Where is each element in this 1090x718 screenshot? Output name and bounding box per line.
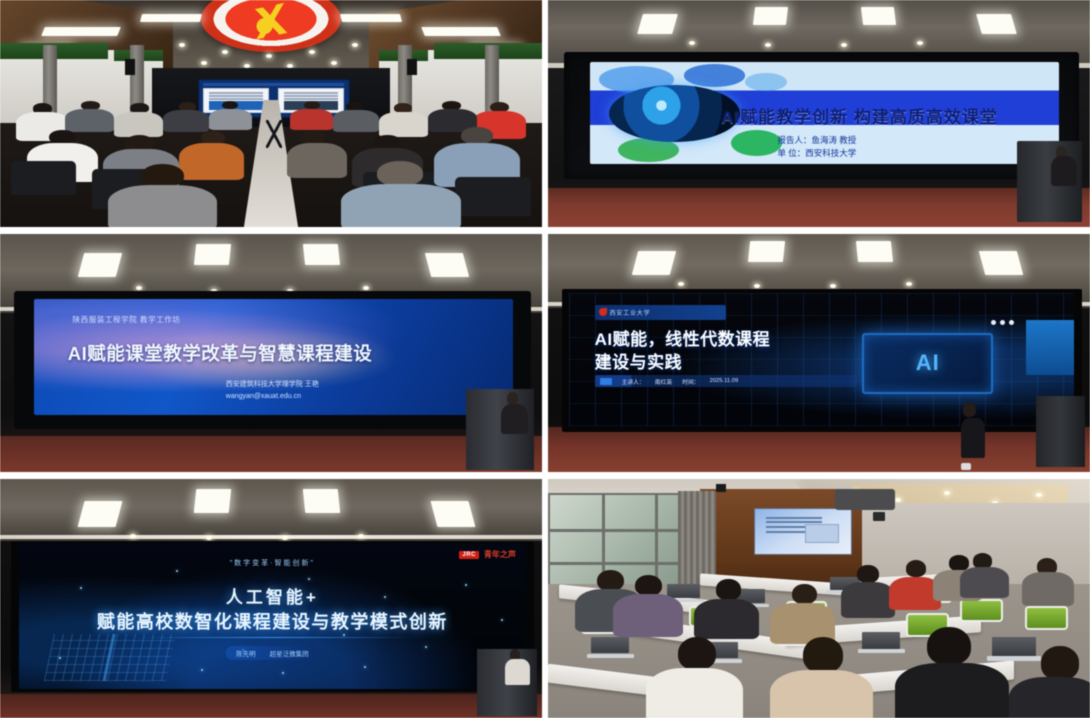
slide-title: AI赋能课堂教学改革与智慧课程建设 bbox=[68, 340, 499, 366]
university-logo: 西安工业大学 bbox=[595, 305, 726, 320]
led-video-wall: 陕西服装工程学院 教学工作坊 AI赋能课堂教学改革与智慧课程建设 西安建筑科技大… bbox=[14, 291, 532, 429]
presenter-name: 鱼海涛 教授 bbox=[811, 135, 856, 145]
downlight bbox=[179, 43, 185, 47]
byline-name: 西安建筑科技大学理学院 王艳 bbox=[226, 379, 319, 391]
collage-cell-top-left bbox=[0, 0, 545, 231]
ceiling-lamp bbox=[42, 27, 122, 36]
downlight bbox=[917, 41, 923, 45]
presenter-label: 报告人： bbox=[777, 135, 811, 145]
wall-speaker bbox=[873, 512, 885, 521]
corner-logo-2: 青年之声 bbox=[484, 549, 516, 560]
slide-title-line2: 建设与实践 bbox=[595, 352, 893, 375]
logo-mark-icon bbox=[599, 308, 607, 316]
speaker-body bbox=[961, 418, 985, 458]
corner-logos: JRC 青年之声 bbox=[459, 549, 516, 560]
downlight bbox=[944, 491, 950, 495]
ceiling-lamp bbox=[78, 501, 123, 527]
downlight bbox=[765, 43, 771, 47]
presenter-organization: 超星泛雅集团 bbox=[270, 648, 309, 658]
downlight bbox=[678, 282, 684, 286]
slide-eyebrow: "数字变革·智能创新" bbox=[230, 558, 315, 568]
ai-monitor-text: AI bbox=[916, 350, 940, 376]
collage-cell-bottom-right bbox=[545, 476, 1090, 718]
ceiling-lamp bbox=[430, 501, 475, 527]
ceiling-lamp bbox=[302, 489, 340, 513]
title-slide: 西安工业大学 AI赋能，线性代数课程 建设与实践 主讲人： 南红英 时间： 20… bbox=[569, 293, 1074, 426]
wireframe-graphic bbox=[44, 634, 176, 681]
speaker-body bbox=[501, 404, 528, 434]
downlight bbox=[906, 282, 912, 286]
downlight bbox=[830, 284, 836, 288]
downlight bbox=[754, 284, 760, 288]
speaker-body bbox=[1051, 156, 1077, 186]
speaker-name: 南红英 bbox=[655, 377, 672, 386]
slide-title: AI赋能，线性代数课程 建设与实践 bbox=[595, 329, 893, 375]
ceiling-lamp bbox=[976, 14, 1017, 34]
photo-computer-training-room bbox=[548, 479, 1090, 718]
slide-title-line1: 人工智能+ bbox=[226, 583, 319, 608]
slide-presenter-pill: 陈先明 超星泛雅集团 bbox=[226, 646, 319, 660]
slide-eyebrow: 陕西服装工程学院 教学工作坊 bbox=[73, 314, 181, 325]
laptop bbox=[591, 637, 629, 654]
slide-presenter-info: 报告人：鱼海涛 教授 单 位：西安科技大学 bbox=[777, 134, 856, 160]
photo-plenary-hall bbox=[0, 0, 542, 227]
ceiling-lamp bbox=[861, 7, 896, 25]
speaker-shoes bbox=[961, 463, 971, 470]
led-video-wall: "数字变革·智能创新" 人工智能+ 赋能高校数智化课程建设与教学模式创新 陈先明… bbox=[11, 541, 534, 692]
led-video-wall: 西安工业大学 AI赋能，线性代数课程 建设与实践 主讲人： 南红英 时间： 20… bbox=[562, 289, 1082, 432]
collage-cell-middle-left: 陕西服装工程学院 教学工作坊 AI赋能课堂教学改革与智慧课程建设 西安建筑科技大… bbox=[0, 231, 545, 476]
ceiling-lamp bbox=[753, 7, 788, 25]
ceiling-lamp bbox=[637, 14, 678, 34]
ceiling-speaker bbox=[716, 484, 726, 492]
slide-side-panel bbox=[1026, 320, 1074, 376]
downlight bbox=[287, 64, 293, 68]
chair bbox=[1025, 606, 1068, 630]
speaker-label: 主讲人： bbox=[622, 377, 645, 386]
downlight bbox=[895, 498, 901, 502]
ceiling-lamp bbox=[194, 244, 231, 265]
downlight bbox=[309, 50, 315, 54]
floor-speaker-cabinet bbox=[1036, 396, 1085, 467]
collage-cell-bottom-left: "数字变革·智能创新" 人工智能+ 赋能高校数智化课程建设与教学模式创新 陈先明… bbox=[0, 476, 545, 718]
title-slide: "数字变革·智能创新" 人工智能+ 赋能高校数智化课程建设与教学模式创新 陈先明… bbox=[19, 543, 526, 689]
collage-cell-middle-right: 西安工业大学 AI赋能，线性代数课程 建设与实践 主讲人： 南红英 时间： 20… bbox=[545, 231, 1090, 476]
ceiling-lamp bbox=[632, 251, 676, 275]
photo-led-wall-circuit-title: 西安工业大学 AI赋能，线性代数课程 建设与实践 主讲人： 南红英 时间： 20… bbox=[548, 234, 1090, 472]
collage-cell-top-right: AI赋能教学创新 构建高质高效课堂 报告人：鱼海涛 教授 单 位：西安科技大学 bbox=[545, 0, 1090, 231]
slide-meta-bar: 主讲人： 南红英 时间： 2025.11.09 bbox=[595, 375, 857, 387]
photo-led-wall-nebula-title: 陕西服装工程学院 教学工作坊 AI赋能课堂教学改革与智慧课程建设 西安建筑科技大… bbox=[0, 234, 542, 472]
red-carpet-floor bbox=[548, 188, 1090, 227]
ceiling-lamp bbox=[425, 253, 469, 277]
presenter-name: 陈先明 bbox=[236, 648, 256, 658]
speaker-body bbox=[505, 659, 530, 685]
ceiling-lamp bbox=[856, 241, 893, 262]
downlight bbox=[130, 534, 136, 538]
slide-title-bar bbox=[203, 83, 344, 86]
time-value: 2025.11.09 bbox=[710, 378, 739, 384]
time-label: 时间： bbox=[682, 377, 699, 386]
laptop bbox=[862, 632, 900, 649]
downlight bbox=[244, 64, 250, 68]
byline-email: wangyan@xauat.edu.cn bbox=[226, 391, 319, 403]
slide-chart-block bbox=[805, 524, 839, 542]
corner-logo-1: JRC bbox=[459, 551, 479, 559]
affiliation-label: 单 位： bbox=[777, 148, 805, 158]
wall-speaker bbox=[407, 59, 417, 75]
meta-chip-icon bbox=[600, 378, 612, 385]
slide-title: AI赋能教学创新 构建高质高效课堂 bbox=[721, 103, 1049, 128]
ceiling-lamp bbox=[340, 14, 402, 22]
decorative-dots-icon bbox=[991, 320, 1014, 325]
speaker-head bbox=[963, 402, 976, 417]
red-carpet-floor bbox=[548, 427, 1090, 472]
title-slide: 陕西服装工程学院 教学工作坊 AI赋能课堂教学改革与智慧课程建设 西安建筑科技大… bbox=[34, 299, 513, 415]
slide-byline: 西安建筑科技大学理学院 王艳 wangyan@xauat.edu.cn bbox=[226, 379, 319, 403]
ceiling-lamp bbox=[421, 27, 501, 36]
downlight bbox=[841, 43, 847, 47]
downlight bbox=[689, 41, 695, 45]
laptop bbox=[992, 637, 1035, 656]
led-video-wall: AI赋能教学创新 构建高质高效课堂 报告人：鱼海涛 教授 单 位：西安科技大学 bbox=[564, 52, 1079, 179]
university-logo-text: 西安工业大学 bbox=[610, 308, 651, 317]
slide-title-line1: AI赋能，线性代数课程 bbox=[595, 329, 893, 352]
title-slide: AI赋能教学创新 构建高质高效课堂 报告人：鱼海涛 教授 单 位：西安科技大学 bbox=[590, 62, 1059, 164]
ceiling-lamp bbox=[978, 251, 1022, 275]
chair bbox=[960, 599, 1003, 623]
downlight bbox=[358, 534, 364, 538]
ceiling-lamp bbox=[302, 244, 339, 265]
ceiling-lamp bbox=[747, 241, 784, 262]
red-carpet-floor bbox=[0, 694, 542, 718]
red-carpet-floor bbox=[0, 436, 542, 472]
slide-title-line2: 赋能高校数智化课程建设与教学模式创新 bbox=[97, 608, 448, 634]
ai-monitor-graphic: AI bbox=[862, 333, 993, 394]
ceiling-lamp bbox=[78, 253, 122, 277]
ceiling-lamp bbox=[140, 14, 202, 22]
downlight bbox=[201, 61, 207, 65]
wall-speaker bbox=[125, 59, 135, 75]
audience bbox=[0, 95, 542, 227]
affiliation-name: 西安科技大学 bbox=[805, 148, 856, 158]
ceiling-lamp bbox=[194, 489, 232, 513]
ceiling-projector-housing bbox=[835, 489, 895, 511]
photo-led-wall-ai-plus-title: "数字变革·智能创新" 人工智能+ 赋能高校数智化课程建设与教学模式创新 陈先明… bbox=[0, 479, 542, 718]
projection-screen bbox=[754, 508, 852, 556]
photo-led-wall-blue-title: AI赋能教学创新 构建高质高效课堂 报告人：鱼海涛 教授 单 位：西安科技大学 bbox=[548, 0, 1090, 227]
photo-collage: AI赋能教学创新 构建高质高效课堂 报告人：鱼海涛 教授 单 位：西安科技大学 bbox=[0, 0, 1090, 718]
